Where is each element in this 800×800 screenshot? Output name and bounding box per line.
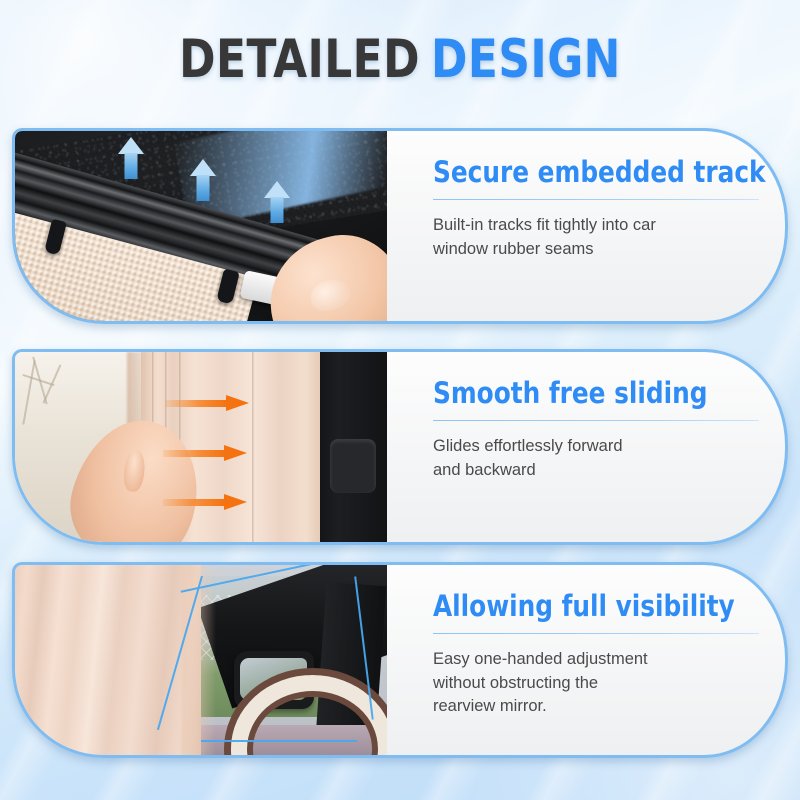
right-arrow-3 bbox=[163, 497, 247, 508]
feature-row-2: Smooth free sliding Glides effortlessly … bbox=[12, 349, 788, 545]
page-title-word-primary: DETAILED bbox=[179, 29, 420, 90]
divider-3 bbox=[433, 633, 759, 634]
window-track-photo bbox=[15, 131, 387, 321]
rearview-visibility-photo bbox=[15, 565, 387, 755]
divider-2 bbox=[433, 420, 759, 421]
curtain-panel bbox=[15, 565, 201, 755]
right-arrow-1 bbox=[165, 398, 249, 409]
feature-body-1: Built-in tracks fit tightly into car win… bbox=[433, 214, 733, 261]
feature-heading-2: Smooth free sliding bbox=[433, 378, 729, 408]
feature-body-2: Glides effortlessly forward and backward bbox=[433, 435, 733, 482]
infographic-page: DETAILEDDESIGN Secure embedded trac bbox=[0, 0, 800, 800]
curtain-leading-edge bbox=[182, 565, 215, 755]
feature-text-1: Secure embedded track Built-in tracks fi… bbox=[387, 131, 785, 321]
visibility-highlight-2 bbox=[201, 740, 357, 742]
feature-heading-1: Secure embedded track bbox=[433, 157, 729, 187]
feature-row-3: Allowing full visibility Easy one-handed… bbox=[12, 562, 788, 758]
feature-row-1: Secure embedded track Built-in tracks fi… bbox=[12, 128, 788, 324]
feature-body-3: Easy one-handed adjustment without obstr… bbox=[433, 648, 733, 718]
index-finger bbox=[122, 449, 146, 493]
divider-1 bbox=[433, 199, 759, 200]
feature-heading-3: Allowing full visibility bbox=[433, 591, 729, 621]
page-title: DETAILEDDESIGN bbox=[32, 33, 768, 86]
sliding-curtain-photo bbox=[15, 352, 387, 542]
feature-text-2: Smooth free sliding Glides effortlessly … bbox=[387, 352, 785, 542]
right-arrow-2 bbox=[163, 448, 247, 459]
tree-branch-1 bbox=[23, 360, 36, 424]
curtain-fold-4 bbox=[252, 352, 255, 542]
door-handle bbox=[330, 439, 376, 493]
page-title-word-accent: DESIGN bbox=[431, 29, 621, 90]
feature-text-3: Allowing full visibility Easy one-handed… bbox=[387, 565, 785, 755]
